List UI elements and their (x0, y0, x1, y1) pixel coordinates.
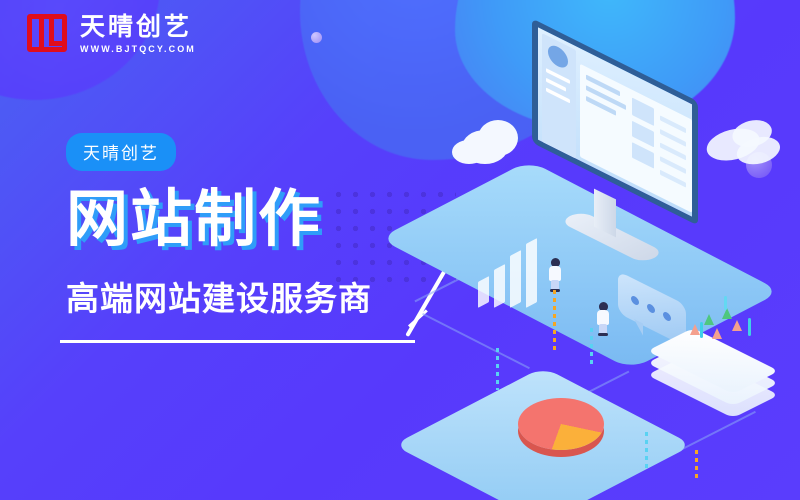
promo-banner: 天晴创艺 WWW.BJTQCY.COM 天晴创艺 网站制作 高端网站建设服务商 (0, 0, 800, 500)
monitor-screen (532, 18, 698, 225)
connector-stem (590, 328, 593, 368)
connector-stem (553, 290, 556, 350)
desktop-monitor-icon (532, 58, 732, 258)
isometric-illustration (420, 40, 800, 480)
hero-badge: 天晴创艺 (66, 133, 176, 171)
brand-name: 天晴创艺 (80, 14, 196, 40)
brand-logo[interactable]: 天晴创艺 WWW.BJTQCY.COM (27, 14, 196, 54)
connector-line (422, 313, 530, 369)
hero-headline: 网站制作 (66, 187, 372, 252)
connector-stem (496, 348, 499, 390)
connector-stem (695, 450, 698, 480)
decorative-sphere-small (311, 32, 322, 43)
tqcy-logo-mark-icon (27, 14, 69, 54)
hero-divider-line (60, 340, 415, 343)
person-figure-icon (596, 302, 610, 336)
server-stack-icon (670, 292, 780, 392)
hero-copy: 天晴创艺 网站制作 高端网站建设服务商 (66, 133, 372, 320)
hero-subheadline: 高端网站建设服务商 (66, 272, 372, 320)
pie-chart-icon (518, 398, 604, 450)
brand-website: WWW.BJTQCY.COM (80, 44, 196, 54)
connector-stem (645, 432, 648, 470)
